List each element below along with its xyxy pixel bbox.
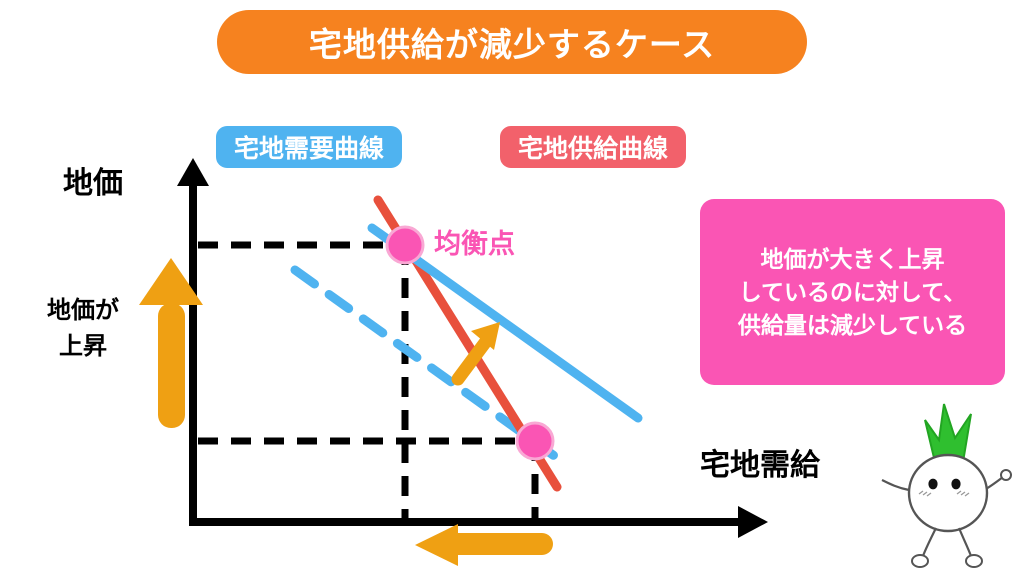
infographic-canvas: 宅地供給が減少するケース 宅地需要曲線 宅地供給曲線 地価が大きく上昇 している… [0,0,1024,576]
turnip-mascot [882,404,1011,567]
supply-demand-chart [0,0,1024,576]
mascot-leg-left [923,528,936,556]
x-axis-arrowhead-icon [738,506,768,538]
guide-lines [198,245,535,519]
mascot-hand-right [1001,470,1011,480]
y-axis-arrowhead-icon [177,158,209,186]
mascot-leg-right [959,528,971,556]
mascot-foot-right [966,555,982,567]
supply-down-arrow-icon [415,524,553,566]
equilibrium-point-upper [387,227,423,263]
mascot-foot-left [912,555,928,567]
mascot-eye-right-icon [951,479,960,490]
mascot-arm-left [882,480,909,490]
mascot-arm-right [986,477,1003,489]
mascot-eye-left-icon [928,479,937,490]
equilibrium-point-lower [517,423,553,459]
mascot-leaf-icon [925,404,971,462]
